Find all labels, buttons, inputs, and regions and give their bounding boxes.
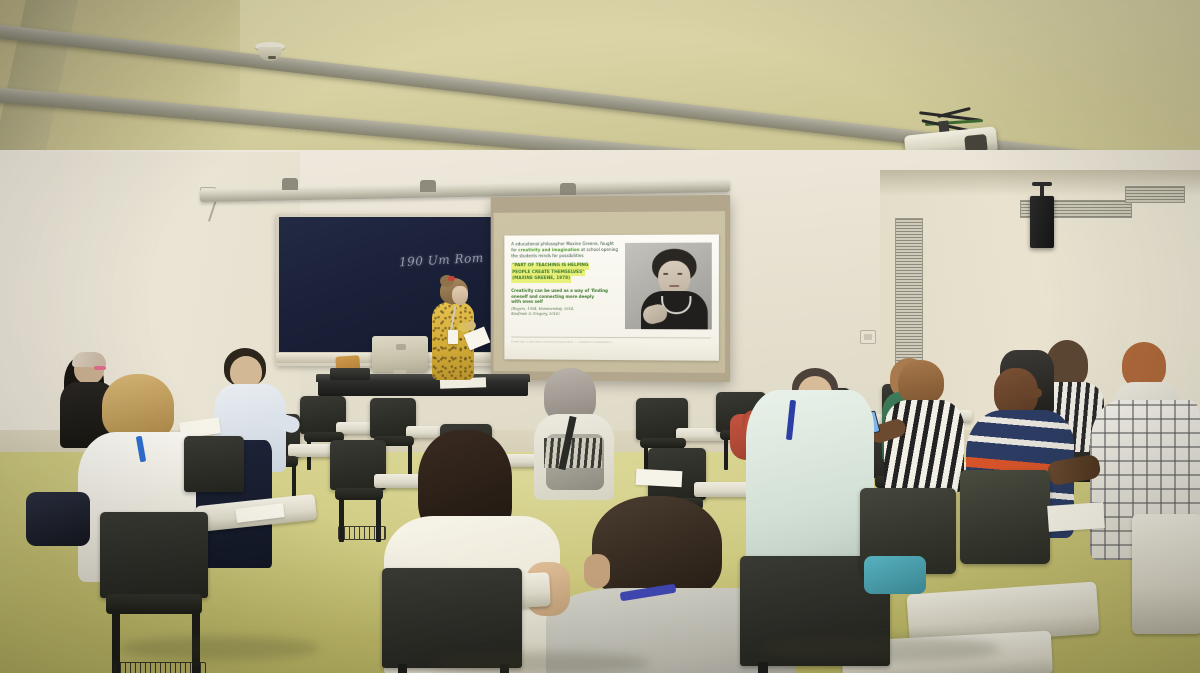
wall-socket-icon: [860, 330, 876, 344]
roller-bracket: [282, 178, 298, 190]
classroom-photo: 190 Um Rom A educational philosopher Max…: [0, 0, 1200, 673]
roller-bracket: [560, 183, 576, 195]
tablet-arm-desk[interactable]: [1132, 514, 1200, 634]
projection-screen: A educational philosopher Maxine Greene,…: [491, 195, 730, 382]
presentation-slide: A educational philosopher Maxine Greene,…: [504, 234, 719, 360]
teacher-desk: [318, 380, 528, 396]
slide-text-column: A educational philosopher Maxine Greene,…: [511, 241, 620, 351]
slide-portrait-photo: [625, 243, 712, 330]
smoke-detector-icon: [255, 42, 285, 64]
roller-bracket: [420, 180, 436, 192]
slide-quote: "PART OF TEACHING IS HELPING PEOPLE CREA…: [511, 263, 620, 282]
screen-surface: A educational philosopher Maxine Greene,…: [494, 211, 725, 373]
monitor-logo: [396, 344, 406, 350]
notebook: [1047, 502, 1105, 532]
head-scarf: [72, 352, 106, 367]
hair-clip: [448, 276, 455, 281]
chalkboard-handwriting: 190 Um Rom: [399, 251, 484, 269]
glasses-icon: [94, 366, 106, 370]
slide-citation: (Rogers, 1954, Hammershøj, 2014, Kaufman…: [511, 307, 620, 317]
name-badge: [448, 330, 458, 344]
ear: [1028, 388, 1042, 398]
slide-keyword: creativity and imagination: [518, 247, 579, 252]
ear: [584, 554, 610, 588]
keyboard[interactable]: [330, 368, 370, 380]
presenter: [424, 278, 480, 390]
slide-paragraph-3: Creativity can be used as a way of 'find…: [511, 288, 620, 305]
handout: [636, 469, 683, 487]
speaker-icon: [1030, 196, 1054, 248]
wall-vent-icon: [1125, 186, 1185, 203]
bag: [864, 556, 926, 594]
slide-paragraph-1: A educational philosopher Maxine Greene,…: [511, 241, 620, 259]
backpack: [26, 492, 90, 546]
